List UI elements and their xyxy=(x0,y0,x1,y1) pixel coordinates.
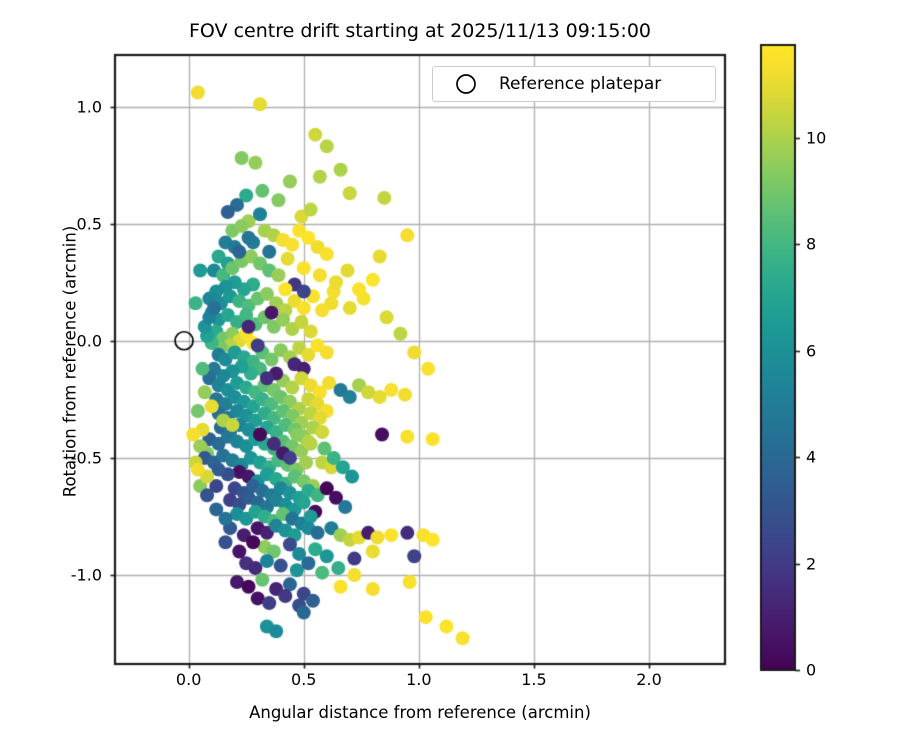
x-tick-label-4: 2.0 xyxy=(636,670,661,689)
x-tick-label-0: 0.0 xyxy=(176,670,201,689)
y-tick-label-0: -1.0 xyxy=(71,565,102,584)
scatter-plot-canvas[interactable] xyxy=(0,0,900,750)
x-tick-label-3: 1.5 xyxy=(521,670,546,689)
colorbar-tick-label-4: 8 xyxy=(806,235,816,254)
legend[interactable]: Reference platepar xyxy=(432,66,716,102)
legend-entry-reference-platepar[interactable]: Reference platepar xyxy=(433,67,715,101)
y-tick-label-4: 1.0 xyxy=(77,97,102,116)
colorbar-tick-label-1: 2 xyxy=(806,554,816,573)
y-tick-label-1: -0.5 xyxy=(71,448,102,467)
x-tick-label-1: 0.5 xyxy=(291,670,316,689)
y-tick-label-3: 0.5 xyxy=(77,214,102,233)
colorbar-tick-label-3: 6 xyxy=(806,341,816,360)
figure-container: FOV centre drift starting at 2025/11/13 … xyxy=(0,0,900,750)
open-circle-icon xyxy=(453,71,479,97)
x-tick-label-2: 1.0 xyxy=(406,670,431,689)
legend-label: Reference platepar xyxy=(499,74,661,94)
colorbar-tick-label-0: 0 xyxy=(806,661,816,680)
colorbar-tick-label-5: 10 xyxy=(806,129,826,148)
y-tick-label-2: 0.0 xyxy=(77,331,102,350)
colorbar-tick-label-2: 4 xyxy=(806,448,816,467)
